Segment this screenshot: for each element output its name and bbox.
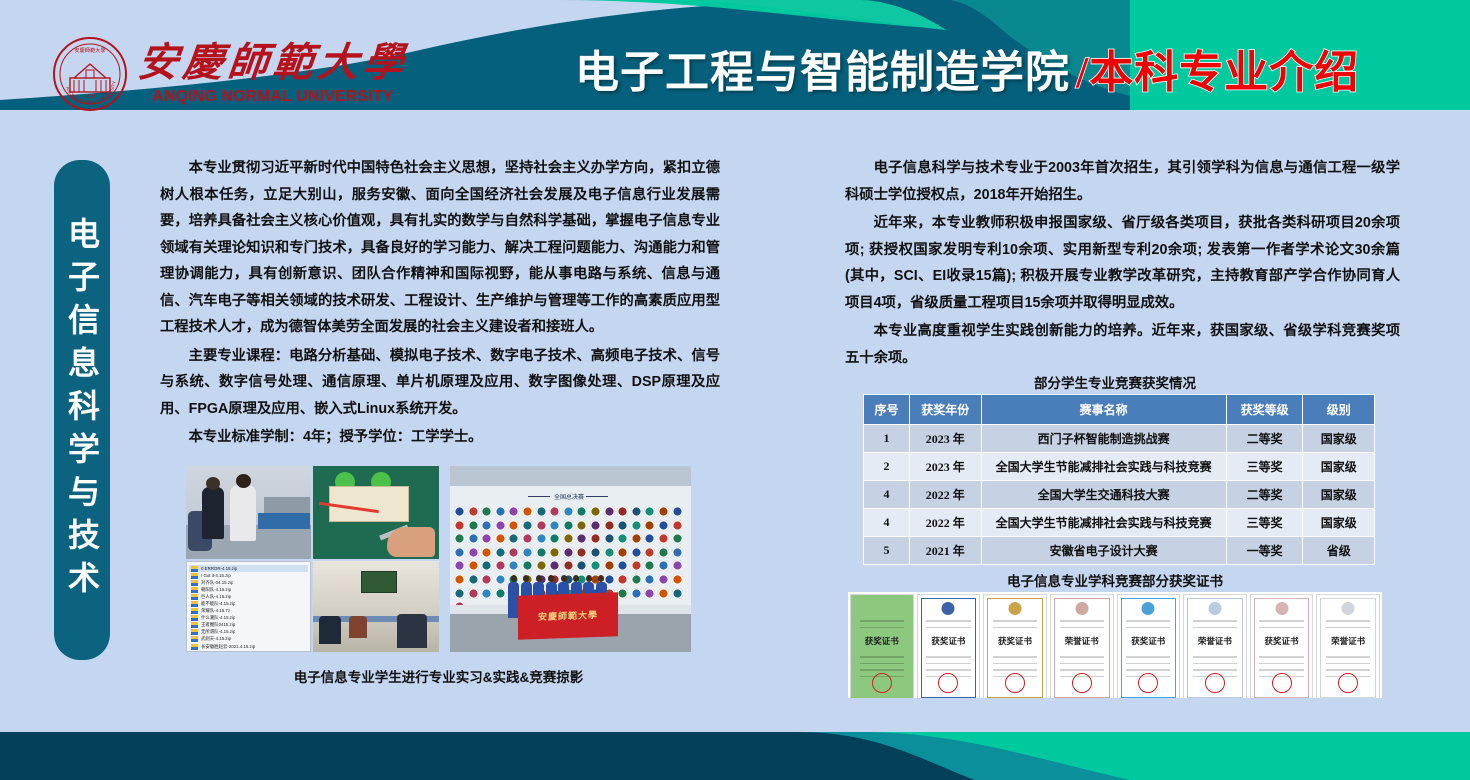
sponsor-logo-dot <box>644 547 655 558</box>
sponsor-logo-dot <box>617 520 628 531</box>
sponsor-logo-dot <box>576 520 587 531</box>
award-table-title: 部分学生专业竞赛获奖情况 <box>845 372 1385 392</box>
award-cell-2: 安徽省电子设计大赛 <box>981 537 1226 565</box>
table-row: 22023 年全国大学生节能减排社会实践与科技竞赛三等奖国家级 <box>864 453 1375 481</box>
certificate-seal-icon <box>872 673 892 693</box>
award-cell-0: 2 <box>864 453 910 481</box>
certificates-title: 电子信息专业学科竞赛部分获奖证书 <box>845 570 1385 590</box>
certificate-text-line <box>1193 627 1237 629</box>
award-cell-3: 一等奖 <box>1226 537 1303 565</box>
sponsor-logo-dot <box>604 506 615 517</box>
sponsor-logo-dot <box>522 520 533 531</box>
certificate-text-line <box>926 663 970 665</box>
sponsor-logo-dot <box>481 520 492 531</box>
sponsor-logo-dot <box>672 520 683 531</box>
file-name: 朝阳队-4.15.zip <box>201 587 231 593</box>
award-table-col-2: 赛事名称 <box>981 395 1226 425</box>
sponsor-logo-dot <box>672 547 683 558</box>
sponsor-logo-dot <box>672 560 683 571</box>
list-item: 长安徽胜赵云-2021.4.15.zip <box>189 643 308 650</box>
award-cell-0: 1 <box>864 425 910 453</box>
crest-year: 1897 <box>84 94 96 100</box>
sponsor-logo-dot <box>644 506 655 517</box>
table-row: 52021 年安徽省电子设计大赛一等奖省级 <box>864 537 1375 565</box>
award-table: 序号获奖年份赛事名称获奖等级级别 12023 年西门子杯智能制造挑战赛二等奖国家… <box>863 394 1375 565</box>
sponsor-logo-dot <box>495 574 506 585</box>
certificate-text-line <box>860 669 904 671</box>
zip-file-icon <box>191 608 198 614</box>
sponsor-logo-dot <box>576 506 587 517</box>
sponsor-logo-dot <box>658 560 669 571</box>
file-name: 0 ERROR-4.15.zip <box>201 566 237 571</box>
sponsor-logo-dot <box>644 560 655 571</box>
table-row: 42022 年全国大学生节能减排社会实践与科技竞赛三等奖国家级 <box>864 509 1375 537</box>
sponsor-logo-dot <box>590 506 601 517</box>
sponsor-logo-dot <box>617 547 628 558</box>
zip-file-icon <box>191 636 198 642</box>
sponsor-logo-dot <box>672 533 683 544</box>
zip-file-icon <box>191 566 198 572</box>
university-name-en: ANQING NORMAL UNIVERSITY <box>153 89 394 105</box>
sponsor-logo-dot <box>672 574 683 585</box>
certificate-text-line <box>993 663 1037 665</box>
sponsor-logo-dot <box>549 560 560 571</box>
award-table-body: 12023 年西门子杯智能制造挑战赛二等奖国家级22023 年全国大学生节能减排… <box>864 425 1375 565</box>
certificate-emblem-icon <box>942 602 955 615</box>
award-cell-1: 2023 年 <box>909 425 981 453</box>
sponsor-logo-dot <box>563 547 574 558</box>
certificate-text-line <box>1259 620 1303 622</box>
sponsor-logo-dot <box>644 588 655 599</box>
university-crest-icon: 1897 安慶師範大學 ANQING NORMAL UNIVERSITY <box>52 36 128 112</box>
sponsor-logo-dot <box>495 588 506 599</box>
certificate-text-line <box>1126 627 1170 629</box>
certificate-title-text: 荣誉证书 <box>1198 635 1232 647</box>
certificate-text-line <box>993 669 1037 671</box>
sponsor-logo-dot <box>495 533 506 544</box>
sponsor-logo-dot <box>604 533 615 544</box>
certificate-emblem-icon <box>1208 602 1221 615</box>
sponsor-logo-dot <box>549 506 560 517</box>
page-title-sub: /本科专业介绍 <box>1076 48 1359 97</box>
sponsor-logo-dot <box>658 506 669 517</box>
sponsor-logo-dot <box>658 547 669 558</box>
left-paragraph-2: 主要专业课程：电路分析基础、模拟电子技术、数字电子技术、高频电子技术、信号与系统… <box>160 343 720 423</box>
certificate-text-line <box>1060 663 1104 665</box>
poster-footer <box>0 698 1470 780</box>
certificate-text-line <box>860 656 904 658</box>
award-cell-3: 三等奖 <box>1226 509 1303 537</box>
award-cell-2: 全国大学生节能减排社会实践与科技竞赛 <box>981 453 1226 481</box>
certificates-strip: 获奖证书获奖证书获奖证书荣誉证书获奖证书荣誉证书获奖证书荣誉证书 <box>848 592 1382 704</box>
list-item: 武则天-4.15.zip <box>189 636 308 643</box>
sponsor-logo-dot <box>658 588 669 599</box>
file-name: 巨人队-4.15.zip <box>201 594 231 600</box>
award-table-col-0: 序号 <box>864 395 910 425</box>
left-paragraph-3: 本专业标准学制：4年；授予学位：工学学士。 <box>160 424 720 451</box>
certificate-seal-icon <box>938 673 958 693</box>
file-name: I Got it-4.15.zip <box>201 573 231 578</box>
sponsor-logo-dot <box>617 506 628 517</box>
award-cell-4: 国家级 <box>1303 425 1375 453</box>
left-paragraph-1: 本专业贯彻习近平新时代中国特色社会主义思想，坚持社会主义办学方向，紧扣立德树人根… <box>160 155 720 341</box>
poster-header: 1897 安慶師範大學 ANQING NORMAL UNIVERSITY 安慶師… <box>0 0 1470 122</box>
certificate-image: 获奖证书 <box>1117 594 1181 702</box>
photo-circuit-board <box>313 466 439 559</box>
list-item: 荣耀队-4.15.7z <box>189 608 308 615</box>
certificate-text-line <box>1326 656 1370 658</box>
file-name: 对齐队-04.15.zip <box>201 580 233 586</box>
sponsor-logo-dot <box>563 520 574 531</box>
certificate-text-line <box>1326 627 1370 629</box>
file-name: 无所谓队-4.15.zip <box>201 629 235 635</box>
sponsor-logo-dot <box>481 588 492 599</box>
certificate-image: 获奖证书 <box>1250 594 1314 702</box>
certificate-text-line <box>993 620 1037 622</box>
sponsor-logo-dot <box>495 560 506 571</box>
certificate-title-text: 获奖证书 <box>1131 635 1165 647</box>
photo-classroom <box>313 561 439 652</box>
certificate-image: 荣誉证书 <box>1050 594 1114 702</box>
certificate-seal-icon <box>1338 673 1358 693</box>
award-cell-1: 2021 年 <box>909 537 981 565</box>
sponsor-logo-dot <box>631 574 642 585</box>
sponsor-logo-dot <box>644 520 655 531</box>
certificate-text-line <box>1060 620 1104 622</box>
sponsor-logo-dot <box>454 547 465 558</box>
sponsor-logo-dot <box>549 547 560 558</box>
award-table-col-3: 获奖等级 <box>1226 395 1303 425</box>
sponsor-logo-dot <box>631 506 642 517</box>
sponsor-logo-dot <box>481 574 492 585</box>
award-table-header-row: 序号获奖年份赛事名称获奖等级级别 <box>864 395 1375 425</box>
certificate-text-line <box>860 627 904 629</box>
university-logo: 1897 安慶師範大學 ANQING NORMAL UNIVERSITY 安慶師… <box>52 36 408 112</box>
practice-photo-caption: 电子信息专业学生进行专业实习&实践&竞赛掠影 <box>186 666 691 686</box>
award-cell-2: 全国大学生节能减排社会实践与科技竞赛 <box>981 509 1226 537</box>
certificate-image: 获奖证书 <box>850 594 914 702</box>
certificate-emblem-icon <box>1275 602 1288 615</box>
certificate-text-line <box>926 656 970 658</box>
sponsor-logo-dot <box>549 520 560 531</box>
award-cell-4: 国家级 <box>1303 509 1375 537</box>
sponsor-logo-dot <box>604 547 615 558</box>
certificate-emblem-icon <box>1075 602 1088 615</box>
certificate-text-line <box>993 656 1037 658</box>
practice-photo-collage: 0 ERROR-4.15.zipI Got it-4.15.zip对齐队-04.… <box>186 466 691 652</box>
certificate-text-line <box>926 620 970 622</box>
page-title: 电子工程与智能制造学院/本科专业介绍 <box>575 36 1359 100</box>
sponsor-logo-dot <box>468 560 479 571</box>
sponsor-logo-dot <box>644 533 655 544</box>
right-paragraph-2: 近年来，本专业教师积极申报国家级、省厅级各类项目，获批各类科研项目20余项项; … <box>845 210 1400 316</box>
photo-file-list: 0 ERROR-4.15.zipI Got it-4.15.zip对齐队-04.… <box>186 561 311 652</box>
sponsor-logo-dot <box>495 547 506 558</box>
sponsor-logo-dot <box>563 506 574 517</box>
sponsor-logo-dot <box>590 520 601 531</box>
sponsor-logo-dot <box>495 520 506 531</box>
certificate-seal-icon <box>1138 673 1158 693</box>
file-name: 能不能队-4.15.zip <box>201 601 235 607</box>
award-cell-1: 2022 年 <box>909 509 981 537</box>
award-cell-0: 5 <box>864 537 910 565</box>
sponsor-logo-dot <box>495 506 506 517</box>
zip-file-icon <box>191 573 198 579</box>
sponsor-logo-dot <box>481 560 492 571</box>
certificate-text-line <box>1126 663 1170 665</box>
list-item: 能不能队-4.15.zip <box>189 600 308 607</box>
sponsor-logo-dot <box>631 547 642 558</box>
certificate-text-line <box>1259 656 1303 658</box>
award-table-col-1: 获奖年份 <box>909 395 981 425</box>
list-item: 什么潮队-4.15.zip <box>189 615 308 622</box>
certificate-text-line <box>926 627 970 629</box>
sponsor-logo-dot <box>468 533 479 544</box>
file-name: 什么潮队-4.15.zip <box>201 615 235 621</box>
certificate-text-line <box>1193 656 1237 658</box>
list-item: 朝阳队-4.15.zip <box>189 586 308 593</box>
certificate-text-line <box>1060 627 1104 629</box>
sponsor-logo-dot <box>508 547 519 558</box>
certificate-title-text: 荣誉证书 <box>1065 635 1099 647</box>
sponsor-logo-dot <box>536 520 547 531</box>
sponsor-logo-dot <box>508 560 519 571</box>
sponsor-logo-dot <box>563 560 574 571</box>
sponsor-logo-dot <box>536 547 547 558</box>
zip-file-icon <box>191 594 198 600</box>
certificate-emblem-icon <box>1142 602 1155 615</box>
sponsor-logo-dot <box>454 533 465 544</box>
sponsor-logo-dot <box>454 574 465 585</box>
certificate-text-line <box>1259 663 1303 665</box>
award-cell-3: 二等奖 <box>1226 425 1303 453</box>
sponsor-logo-dot <box>617 560 628 571</box>
photo-lab-visit <box>186 466 311 559</box>
sponsor-logo-dot <box>454 560 465 571</box>
certificate-seal-icon <box>1205 673 1225 693</box>
award-cell-3: 二等奖 <box>1226 481 1303 509</box>
certificate-seal-icon <box>1005 673 1025 693</box>
certificate-title-text: 获奖证书 <box>998 635 1032 647</box>
zip-file-icon <box>191 580 198 586</box>
list-item: I Got it-4.15.zip <box>189 572 308 579</box>
file-name: 王者圈队0415.zip <box>201 622 235 628</box>
award-cell-4: 国家级 <box>1303 481 1375 509</box>
left-column: 本专业贯彻习近平新时代中国特色社会主义思想，坚持社会主义办学方向，紧扣立德树人根… <box>160 155 720 453</box>
file-name: 武则天-4.15.zip <box>201 636 231 642</box>
certificate-emblem-icon <box>1342 602 1355 615</box>
award-cell-1: 2023 年 <box>909 453 981 481</box>
certificate-emblem-icon <box>1009 602 1022 615</box>
award-cell-2: 西门子杯智能制造挑战赛 <box>981 425 1226 453</box>
sponsor-logo-dot <box>454 588 465 599</box>
certificate-text-line <box>1126 620 1170 622</box>
file-name: 长安徽胜赵云-2021.4.15.zip <box>201 644 255 650</box>
table-row: 42022 年全国大学生交通科技大赛二等奖国家级 <box>864 481 1375 509</box>
sponsor-logo-dot <box>631 560 642 571</box>
award-cell-2: 全国大学生交通科技大赛 <box>981 481 1226 509</box>
sponsor-logo-dot <box>576 533 587 544</box>
table-row: 12023 年西门子杯智能制造挑战赛二等奖国家级 <box>864 425 1375 453</box>
certificate-text-line <box>1193 669 1237 671</box>
certificate-text-line <box>1259 627 1303 629</box>
sponsor-logo-dot <box>508 520 519 531</box>
certificate-text-line <box>860 620 904 622</box>
certificate-text-line <box>1259 669 1303 671</box>
right-paragraph-1: 电子信息科学与技术专业于2003年首次招生，其引领学科为信息与通信工程一级学科硕… <box>845 155 1400 208</box>
sponsor-logo-dot <box>468 506 479 517</box>
certificate-text-line <box>993 627 1037 629</box>
sponsor-logo-dot <box>631 520 642 531</box>
sponsor-logo-dot <box>658 533 669 544</box>
sponsor-logo-dot <box>522 547 533 558</box>
right-column: 电子信息科学与技术专业于2003年首次招生，其引领学科为信息与通信工程一级学科硕… <box>845 155 1400 373</box>
zip-file-icon <box>191 629 198 635</box>
award-cell-1: 2022 年 <box>909 481 981 509</box>
award-table-col-4: 级别 <box>1303 395 1375 425</box>
certificate-text-line <box>1193 620 1237 622</box>
certificate-text-line <box>860 663 904 665</box>
sponsor-logo-dot <box>468 588 479 599</box>
sponsor-logo-dot <box>617 533 628 544</box>
certificate-text-line <box>1126 656 1170 658</box>
sponsor-logo-dot <box>658 520 669 531</box>
sponsor-logo-dot <box>590 560 601 571</box>
sponsor-logo-dot <box>672 588 683 599</box>
sponsor-logo-dot <box>536 560 547 571</box>
sponsor-logo-dot <box>468 520 479 531</box>
zip-file-icon <box>191 587 198 593</box>
certificate-emblem-icon <box>875 602 888 615</box>
sponsor-logo-dot <box>481 506 492 517</box>
sponsor-logo-dot <box>563 533 574 544</box>
major-name-tab: 电子信息科学与技术 <box>54 160 110 660</box>
list-item: 对齐队-04.15.zip <box>189 579 308 586</box>
award-cell-0: 4 <box>864 481 910 509</box>
certificate-title-text: 获奖证书 <box>931 635 965 647</box>
certificate-text-line <box>1060 656 1104 658</box>
file-name: 荣耀队-4.15.7z <box>201 608 230 614</box>
photo-team-competition: 全国总决赛 安慶師範大學 <box>450 466 691 652</box>
sponsor-logo-dot <box>590 547 601 558</box>
certificate-title-text: 获奖证书 <box>1265 635 1299 647</box>
award-cell-4: 省级 <box>1303 537 1375 565</box>
sponsor-logo-dot <box>658 574 669 585</box>
sponsor-logo-dot <box>522 560 533 571</box>
sponsor-logo-dot <box>631 533 642 544</box>
award-cell-4: 国家级 <box>1303 453 1375 481</box>
sponsor-logo-dot <box>522 506 533 517</box>
right-paragraph-3: 本专业高度重视学生实践创新能力的培养。近年来，获国家级、省级学科竞赛奖项五十余项… <box>845 318 1400 371</box>
sponsor-logo-dot <box>672 506 683 517</box>
award-cell-3: 三等奖 <box>1226 453 1303 481</box>
svg-text:安慶師範大學: 安慶師範大學 <box>74 46 105 54</box>
award-cell-0: 4 <box>864 509 910 537</box>
certificate-text-line <box>1326 620 1370 622</box>
certificate-text-line <box>1060 669 1104 671</box>
certificate-image: 荣誉证书 <box>1183 594 1247 702</box>
certificate-text-line <box>1193 663 1237 665</box>
certificate-seal-icon <box>1072 673 1092 693</box>
backdrop-header: 全国总决赛 <box>528 492 608 500</box>
sponsor-logo-dot <box>481 547 492 558</box>
poster-root: 1897 安慶師範大學 ANQING NORMAL UNIVERSITY 安慶師… <box>0 0 1470 780</box>
sponsor-logo-dot <box>617 588 628 599</box>
sponsor-logo-dot <box>454 506 465 517</box>
certificate-text-line <box>1326 663 1370 665</box>
page-title-main: 电子工程与智能制造学院 <box>575 48 1070 97</box>
list-item: 无所谓队-4.15.zip <box>189 629 308 636</box>
sponsor-logo-dot <box>536 506 547 517</box>
svg-text:ANQING NORMAL UNIVERSITY: ANQING NORMAL UNIVERSITY <box>65 81 117 105</box>
certificate-text-line <box>1126 669 1170 671</box>
sponsor-logo-dot <box>604 520 615 531</box>
zip-file-icon <box>191 615 198 621</box>
certificate-seal-icon <box>1272 673 1292 693</box>
sponsor-logo-dot <box>508 533 519 544</box>
sponsor-logo-dot <box>508 506 519 517</box>
list-item: 0 ERROR-4.15.zip <box>189 565 308 572</box>
zip-file-icon <box>191 622 198 628</box>
sponsor-logo-dot <box>604 560 615 571</box>
zip-file-icon <box>191 601 198 607</box>
zip-file-icon <box>191 644 198 650</box>
sponsor-logo-dot <box>576 560 587 571</box>
sponsor-logo-dot <box>576 547 587 558</box>
certificate-title-text: 荣誉证书 <box>1331 635 1365 647</box>
sponsor-logo-dot <box>522 533 533 544</box>
certificate-image: 获奖证书 <box>917 594 981 702</box>
collage-left-group: 0 ERROR-4.15.zipI Got it-4.15.zip对齐队-04.… <box>186 466 439 652</box>
list-item: 巨人队-4.15.zip <box>189 593 308 600</box>
certificate-text-line <box>1326 669 1370 671</box>
list-item: 王者圈队0415.zip <box>189 622 308 629</box>
sponsor-logo-dot <box>617 574 628 585</box>
footer-wave-graphic <box>0 698 1470 780</box>
team-banner: 安慶師範大學 <box>518 592 618 639</box>
team-banner-text: 安慶師範大學 <box>538 610 598 622</box>
sponsor-logo-dot <box>590 533 601 544</box>
sponsor-logo-dot <box>468 574 479 585</box>
sponsor-logo-dot <box>549 533 560 544</box>
certificate-image: 获奖证书 <box>983 594 1047 702</box>
certificate-text-line <box>926 669 970 671</box>
certificate-title-text: 获奖证书 <box>865 635 899 647</box>
major-name-label: 电子信息科学与技术 <box>59 217 105 604</box>
university-name-cn: 安慶師範大學 <box>136 43 410 83</box>
sponsor-logo-dot <box>536 533 547 544</box>
sponsor-logo-dot <box>644 574 655 585</box>
sponsor-logo-dot <box>468 547 479 558</box>
sponsor-logo-dot <box>454 520 465 531</box>
university-name-block: 安慶師範大學 ANQING NORMAL UNIVERSITY <box>138 43 408 105</box>
sponsor-logo-dot <box>481 533 492 544</box>
sponsor-logo-dot <box>631 588 642 599</box>
certificate-image: 荣誉证书 <box>1316 594 1380 702</box>
